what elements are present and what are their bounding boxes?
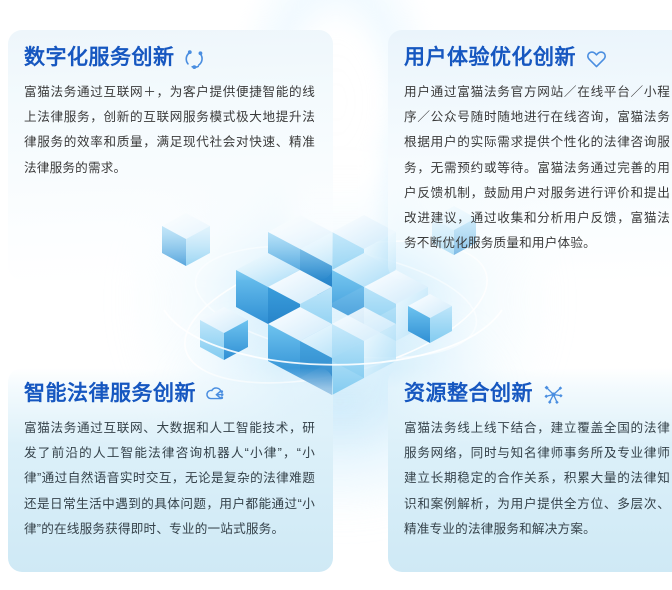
card-title: 资源整合创新 [404,382,670,406]
card-user-experience-innovation: 用户体验优化创新 用户通过富猫法务官方网站／在线平台／小程序／公众号随时随地进行… [388,30,672,280]
card-body-text: 富猫法务通过互联网、大数据和人工智能技术，研发了前沿的人工智能法律咨询机器人“小… [24,416,315,542]
card-title-text: 资源整合创新 [404,382,533,405]
card-digital-service-innovation: 数字化服务创新 富猫法务通过互联网＋，为客户提供便捷智能的线上法律服务，创新的互… [8,30,333,280]
page-root: 数字化服务创新 富猫法务通过互联网＋，为客户提供便捷智能的线上法律服务，创新的互… [0,0,672,590]
card-title: 用户体验优化创新 [404,46,670,70]
card-body-text: 富猫法务线上线下结合，建立覆盖全国的法律服务网络，同时与知名律师事务所及专业律师… [404,416,670,542]
card-resource-integration-innovation: 资源整合创新 富猫法务线上线下结合 [388,368,672,572]
share-network-icon [183,46,207,70]
cloud-ai-icon [204,382,228,406]
card-title-text: 用户体验优化创新 [404,46,576,69]
card-title-text: 数字化服务创新 [24,46,175,69]
card-body-text: 富猫法务通过互联网＋，为客户提供便捷智能的线上法律服务，创新的互联网服务模式极大… [24,80,315,181]
card-body-text: 用户通过富猫法务官方网站／在线平台／小程序／公众号随时随地进行在线咨询，富猫法务… [404,80,670,256]
card-title: 智能法律服务创新 [24,382,315,406]
network-hub-icon [541,382,565,406]
card-title: 数字化服务创新 [24,46,315,70]
card-smart-legal-service-innovation: 智能法律服务创新 富猫法务通过互联网、大数据和人工智能技术，研发了前沿的人工智能… [8,368,333,572]
card-title-text: 智能法律服务创新 [24,382,196,405]
heart-icon [584,46,608,70]
